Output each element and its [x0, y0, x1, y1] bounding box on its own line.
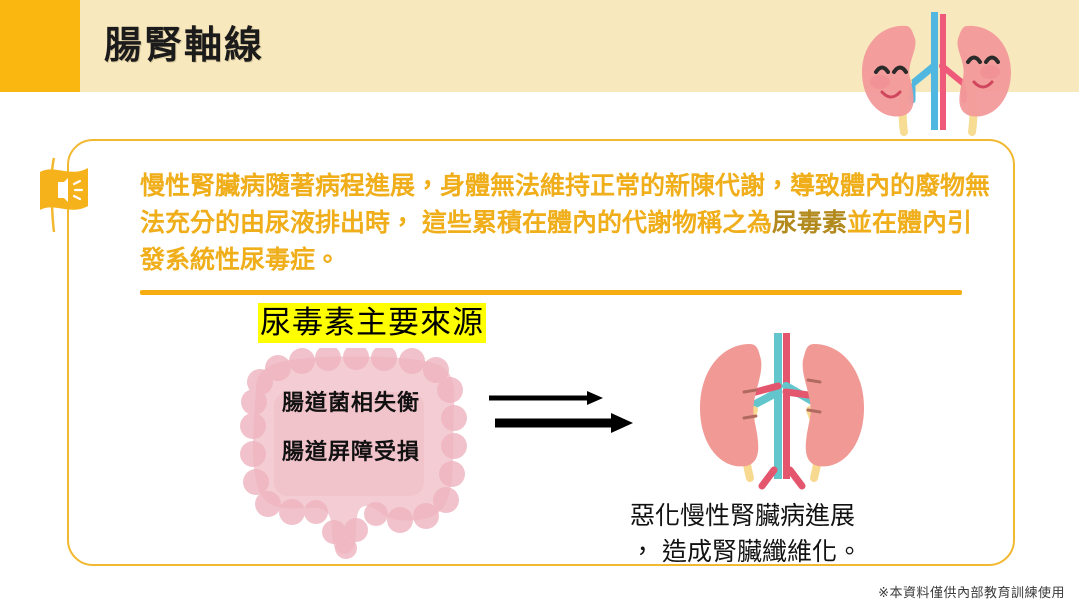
footer-note: ※本資料僅供內部教育訓練使用 [878, 582, 1065, 601]
header-accent-block [0, 0, 80, 92]
gut-label-2: 腸道屏障受損 [232, 434, 470, 466]
lead-paragraph: 慢性腎臟病隨著病程進展，身體無法維持正常的新陳代謝，導致體內的廢物無法充分的由尿… [140, 168, 990, 279]
lead-highlight-term: 尿毒素 [772, 209, 847, 237]
gut-label-1: 腸道菌相失衡 [232, 385, 470, 417]
section-divider [140, 290, 962, 295]
kidney-caption: 惡化慢性腎臟病進展 ， 造成腎臟纖維化。 [630, 498, 960, 570]
section-subtitle: 尿毒素主要來源 [258, 303, 486, 343]
right-arrow-thin [489, 390, 605, 408]
smiling-kidneys-illustration [838, 8, 1034, 138]
slide-root: 腸腎軸線 慢性腎臟病隨著病程進展，身體無法維 [0, 0, 1079, 607]
kidneys-illustration [686, 330, 876, 498]
megaphone-flag-icon [36, 156, 98, 234]
kidney-caption-line-1: 惡化慢性腎臟病進展 [630, 498, 960, 534]
right-arrow-thick [495, 412, 635, 436]
kidney-caption-line-2: ， 造成腎臟纖維化。 [630, 534, 960, 570]
page-title: 腸腎軸線 [104, 20, 264, 72]
